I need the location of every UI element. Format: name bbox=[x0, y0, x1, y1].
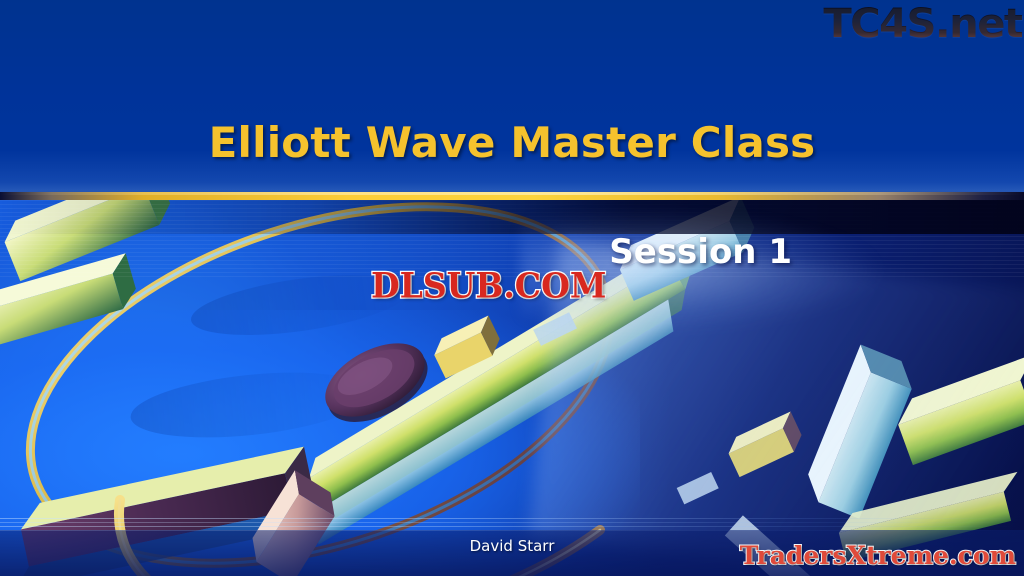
presentation-slide: Elliott Wave Master Class bbox=[0, 0, 1024, 576]
footer-line bbox=[0, 530, 1024, 531]
gold-divider-highlight bbox=[0, 192, 1024, 195]
dlsub-watermark-text: DLSUB.COM bbox=[371, 265, 606, 306]
slide-title: Elliott Wave Master Class bbox=[0, 118, 1024, 167]
footer-line-group bbox=[0, 518, 1024, 532]
tc4s-watermark: TC4S.net bbox=[823, 2, 1022, 46]
dlsub-watermark: DLSUB.COM bbox=[371, 265, 606, 306]
footer-line bbox=[0, 526, 1024, 527]
tradersxtreme-logo: TradersXtreme.com bbox=[740, 541, 1016, 570]
footer-line bbox=[0, 522, 1024, 523]
footer-line bbox=[0, 518, 1024, 519]
